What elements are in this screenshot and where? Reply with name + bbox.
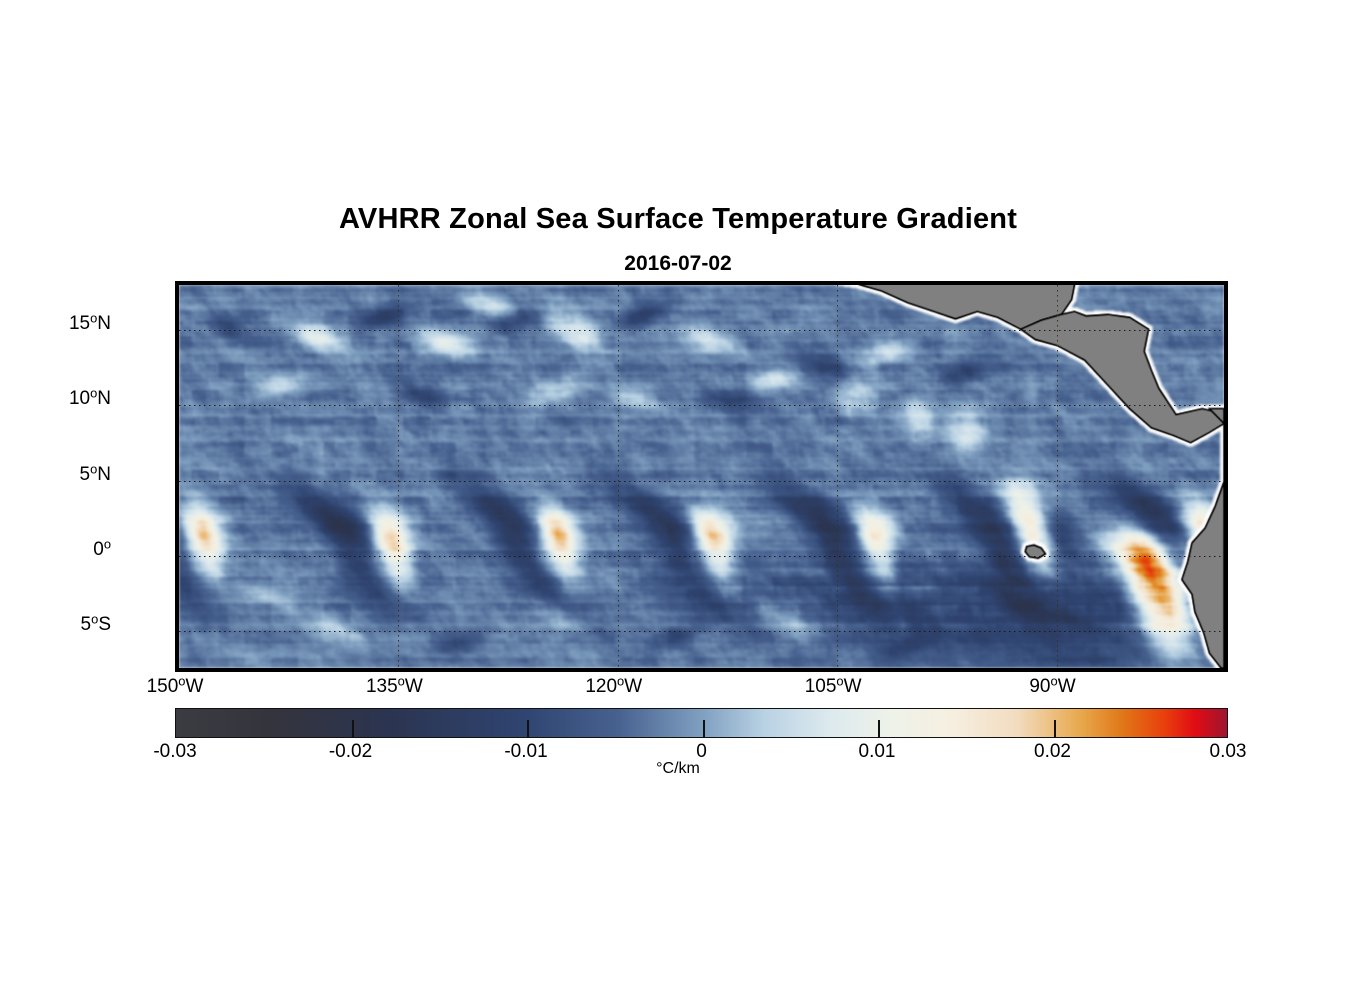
x-axis-tick-label: 135oW bbox=[366, 676, 423, 698]
x-axis-tick-label: 105oW bbox=[805, 676, 862, 698]
x-axis-tick bbox=[396, 668, 400, 672]
y-axis-tick-label: 15oN bbox=[69, 313, 111, 335]
y-axis-tick bbox=[1224, 328, 1228, 333]
y-axis-tick bbox=[175, 403, 179, 408]
y-axis-tick bbox=[1224, 478, 1228, 483]
x-axis-tick bbox=[396, 281, 400, 285]
x-axis-tick bbox=[1055, 668, 1059, 672]
x-axis-tick bbox=[1055, 281, 1059, 285]
x-axis-tick-label: 150oW bbox=[147, 676, 204, 698]
y-axis-tick bbox=[175, 478, 179, 483]
colorbar-tick bbox=[703, 720, 705, 737]
colorbar-tick bbox=[527, 720, 529, 737]
x-axis-tick-label: 90oW bbox=[1029, 676, 1075, 698]
y-axis-tick-label: 5oS bbox=[81, 614, 111, 636]
x-axis-tick bbox=[835, 668, 839, 672]
x-axis-tick bbox=[616, 281, 620, 285]
y-axis-tick bbox=[1224, 553, 1228, 558]
colorbar-tick bbox=[352, 720, 354, 737]
y-axis-tick bbox=[175, 553, 179, 558]
x-axis-tick bbox=[177, 281, 181, 285]
y-axis-tick-label: 0o bbox=[93, 539, 111, 561]
colorbar bbox=[175, 708, 1228, 738]
y-axis-tick bbox=[175, 628, 179, 633]
colorbar-tick bbox=[878, 720, 880, 737]
y-axis-tick bbox=[175, 328, 179, 333]
colorbar-gradient bbox=[176, 709, 1227, 737]
colorbar-tick bbox=[1054, 720, 1056, 737]
sst-gradient-heatmap bbox=[179, 285, 1224, 668]
x-axis-tick bbox=[835, 281, 839, 285]
colorbar-unit-label: °C/km bbox=[0, 760, 1356, 778]
y-axis-tick-label: 5oN bbox=[80, 464, 112, 486]
page-title: AVHRR Zonal Sea Surface Temperature Grad… bbox=[0, 203, 1356, 236]
y-axis-tick bbox=[1224, 628, 1228, 633]
x-axis-tick-label: 120oW bbox=[585, 676, 642, 698]
x-axis-tick bbox=[177, 668, 181, 672]
x-axis-tick bbox=[616, 668, 620, 672]
page-subtitle: 2016-07-02 bbox=[0, 252, 1356, 276]
map-axes bbox=[175, 281, 1228, 672]
y-axis-tick bbox=[1224, 403, 1228, 408]
y-axis-tick-label: 10oN bbox=[69, 388, 111, 410]
figure-root: AVHRR Zonal Sea Surface Temperature Grad… bbox=[0, 0, 1356, 1000]
